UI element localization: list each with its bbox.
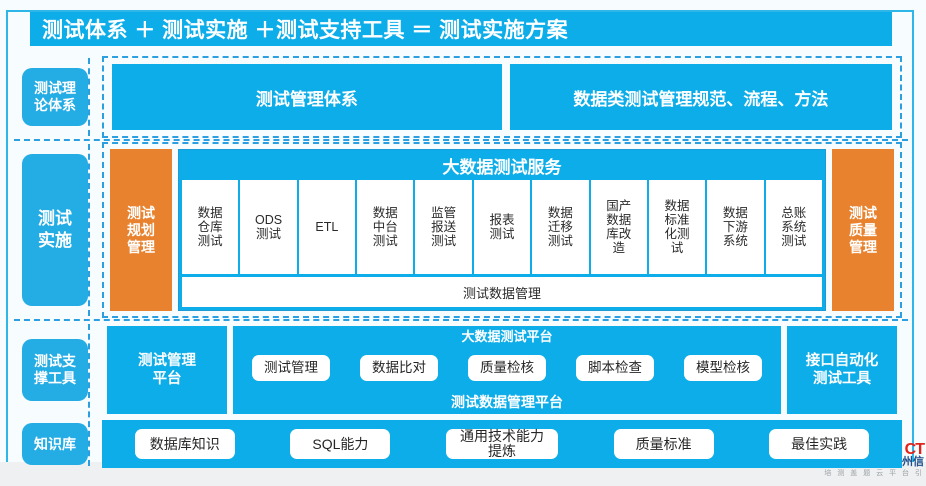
header-banner: 测试体系 ＋ 测试实施 ＋测试支持工具 ＝ 测试实施方案 (30, 12, 892, 46)
row-theory-system: 测试理论体系 测试管理体系 数据类测试管理规范、流程、方法 (8, 56, 914, 138)
impl-item[interactable]: 数据中台测试 (357, 180, 413, 274)
sidebar-item-theory-system[interactable]: 测试理论体系 (22, 68, 88, 126)
impl-item[interactable]: ODS测试 (240, 180, 296, 274)
tools-footer-test-data-management-platform: 测试数据管理平台 (233, 390, 781, 414)
divider-impl-tools (14, 319, 908, 321)
tools-block-api-automation[interactable]: 接口自动化测试工具 (787, 326, 897, 414)
knowledge-pill[interactable]: 数据库知识 (135, 429, 235, 459)
knowledge-pill[interactable]: 最佳实践 (769, 429, 869, 459)
impl-item[interactable]: 监管报送测试 (415, 180, 471, 274)
support-tools-group: 测试管理平台 大数据测试平台 测试管理 数据比对 质量检核 脚本检查 模型检核 … (102, 322, 902, 418)
impl-item[interactable]: 数据迁移测试 (532, 180, 588, 274)
row-support-tools: 测试支撑工具 测试管理平台 大数据测试平台 测试管理 数据比对 质量检核 脚本检… (8, 322, 914, 418)
sidebar-cell-implementation: 测试实施 (22, 142, 88, 318)
tools-pill[interactable]: 质量检核 (468, 355, 546, 381)
sidebar-item-support-tools[interactable]: 测试支撑工具 (22, 339, 88, 401)
sidebar-item-implementation[interactable]: 测试实施 (22, 154, 88, 306)
theory-block-data-spec[interactable]: 数据类测试管理规范、流程、方法 (510, 64, 892, 130)
impl-item[interactable]: 报表测试 (474, 180, 530, 274)
impl-item[interactable]: 总账系统测试 (766, 180, 822, 274)
divider-theory-impl (14, 139, 908, 141)
sidebar-cell-theory: 测试理论体系 (22, 56, 88, 138)
big-data-test-service-title: 大数据测试服务 (179, 150, 825, 180)
tools-pill[interactable]: 测试管理 (252, 355, 330, 381)
tools-pill-list: 测试管理 数据比对 质量检核 脚本检查 模型检核 (233, 345, 781, 390)
impl-footer-test-data-management[interactable]: 测试数据管理 (182, 277, 822, 307)
big-data-test-platform-title: 大数据测试平台 (233, 326, 781, 345)
tools-pill[interactable]: 数据比对 (360, 355, 438, 381)
page-title: 测试体系 ＋ 测试实施 ＋测试支持工具 ＝ 测试实施方案 (42, 14, 568, 44)
tools-pill[interactable]: 脚本检查 (576, 355, 654, 381)
sidebar-item-knowledge-base[interactable]: 知识库 (22, 423, 88, 465)
tools-block-test-management-platform[interactable]: 测试管理平台 (107, 326, 227, 414)
impl-item[interactable]: 数据下游系统 (707, 180, 763, 274)
sidebar-cell-knowledge: 知识库 (22, 420, 88, 468)
sidebar-cell-support-tools: 测试支撑工具 (22, 322, 88, 418)
impl-block-test-quality-management[interactable]: 测试质量管理 (832, 149, 894, 311)
implementation-group: 测试规划管理 大数据测试服务 数据仓库测试 ODS测试 ETL 数据中台测试 监… (102, 142, 902, 318)
impl-item[interactable]: 数据标准化测试 (649, 180, 705, 274)
impl-block-test-planning-management[interactable]: 测试规划管理 (110, 149, 172, 311)
big-data-test-platform-panel: 大数据测试平台 测试管理 数据比对 质量检核 脚本检查 模型检核 测试数据管理平… (233, 326, 781, 414)
row-test-implementation: 测试实施 测试规划管理 大数据测试服务 数据仓库测试 ODS测试 ETL 数据中… (8, 142, 914, 318)
knowledge-pill[interactable]: 通用技术能力提炼 (446, 429, 558, 459)
knowledge-pill[interactable]: SQL能力 (290, 429, 390, 459)
impl-item[interactable]: 国产数据库改造 (591, 180, 647, 274)
knowledge-pill[interactable]: 质量标准 (614, 429, 714, 459)
big-data-test-service-panel: 大数据测试服务 数据仓库测试 ODS测试 ETL 数据中台测试 监管报送测试 报… (178, 149, 826, 311)
row-knowledge-base: 知识库 数据库知识 SQL能力 通用技术能力提炼 质量标准 最佳实践 (8, 420, 914, 468)
theory-group: 测试管理体系 数据类测试管理规范、流程、方法 (102, 56, 902, 138)
slide-canvas: 测试体系 ＋ 测试实施 ＋测试支持工具 ＝ 测试实施方案 测试理论体系 测试管理… (0, 0, 926, 486)
tools-pill[interactable]: 模型检核 (684, 355, 762, 381)
impl-item-list: 数据仓库测试 ODS测试 ETL 数据中台测试 监管报送测试 报表测试 数据迁移… (179, 180, 825, 274)
knowledge-strip: 数据库知识 SQL能力 通用技术能力提炼 质量标准 最佳实践 (102, 420, 902, 468)
impl-item[interactable]: 数据仓库测试 (182, 180, 238, 274)
impl-item[interactable]: ETL (299, 180, 355, 274)
theory-block-management-system[interactable]: 测试管理体系 (112, 64, 502, 130)
